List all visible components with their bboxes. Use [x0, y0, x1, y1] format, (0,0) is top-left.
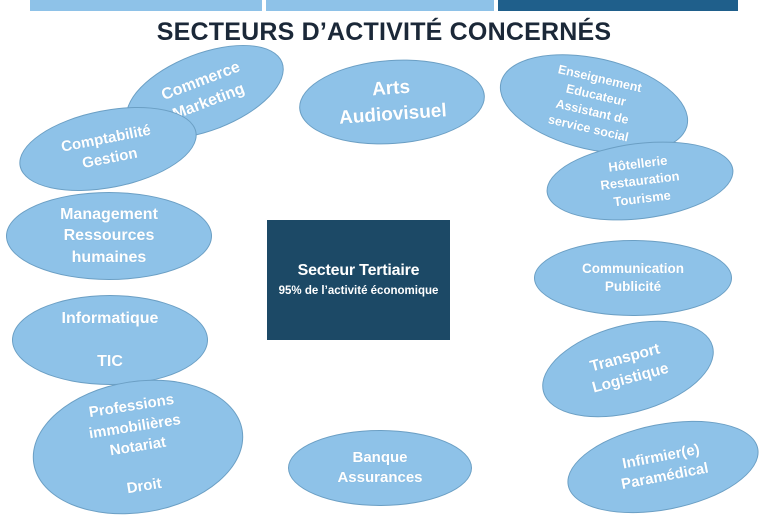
sector-label-transport-logistique: Transport Logistique — [585, 339, 672, 400]
center-box-title: Secteur Tertiaire — [298, 262, 420, 280]
sector-bubble-management-ressources-humaines[interactable]: Management Ressources humaines — [6, 192, 212, 280]
sector-bubble-professions-immobilieres[interactable]: Professions immobilières Notariat Droit — [23, 365, 253, 529]
sector-label-comptabilite-gestion: Comptabilité Gestion — [60, 120, 157, 177]
sector-label-arts-audiovisuel: Arts Audiovisuel — [336, 73, 447, 132]
sector-label-hotellerie-restauration-tourisme: Hôtellerie Restauration Tourisme — [597, 150, 682, 212]
sector-bubble-communication-publicite[interactable]: Communication Publicité — [534, 240, 732, 316]
sector-label-management-ressources-humaines: Management Ressources humaines — [60, 204, 158, 269]
sector-label-informatique-tic: Informatique TIC — [62, 308, 159, 373]
sector-bubble-infirmier-paramedical[interactable]: Infirmier(e) Paramédical — [560, 406, 767, 527]
slide-canvas: SECTEURS D’ACTIVITÉ CONCERNÉS Secteur Te… — [0, 0, 768, 524]
page-title: SECTEURS D’ACTIVITÉ CONCERNÉS — [0, 18, 768, 47]
sector-label-enseignement-educateur: Enseignement Educateur Assistant de serv… — [545, 62, 643, 147]
center-sector-box: Secteur Tertiaire 95% de l’activité écon… — [267, 220, 450, 340]
sector-label-infirmier-paramedical: Infirmier(e) Paramédical — [616, 439, 710, 496]
sector-bubble-arts-audiovisuel[interactable]: Arts Audiovisuel — [296, 54, 487, 151]
sector-bubble-hotellerie-restauration-tourisme[interactable]: Hôtellerie Restauration Tourisme — [542, 132, 738, 230]
center-box-subtitle: 95% de l’activité économique — [279, 284, 439, 298]
sector-label-professions-immobilieres: Professions immobilières Notariat Droit — [84, 390, 191, 504]
sector-bubble-informatique-tic[interactable]: Informatique TIC — [12, 295, 208, 385]
sector-bubble-banque-assurances[interactable]: Banque Assurances — [288, 430, 472, 506]
sector-label-communication-publicite: Communication Publicité — [582, 260, 684, 296]
top-bar-left — [30, 0, 262, 11]
top-bar-middle — [266, 0, 494, 11]
sector-bubble-transport-logistique[interactable]: Transport Logistique — [532, 304, 725, 435]
top-bar-right — [498, 0, 738, 11]
sector-label-banque-assurances: Banque Assurances — [337, 448, 422, 489]
